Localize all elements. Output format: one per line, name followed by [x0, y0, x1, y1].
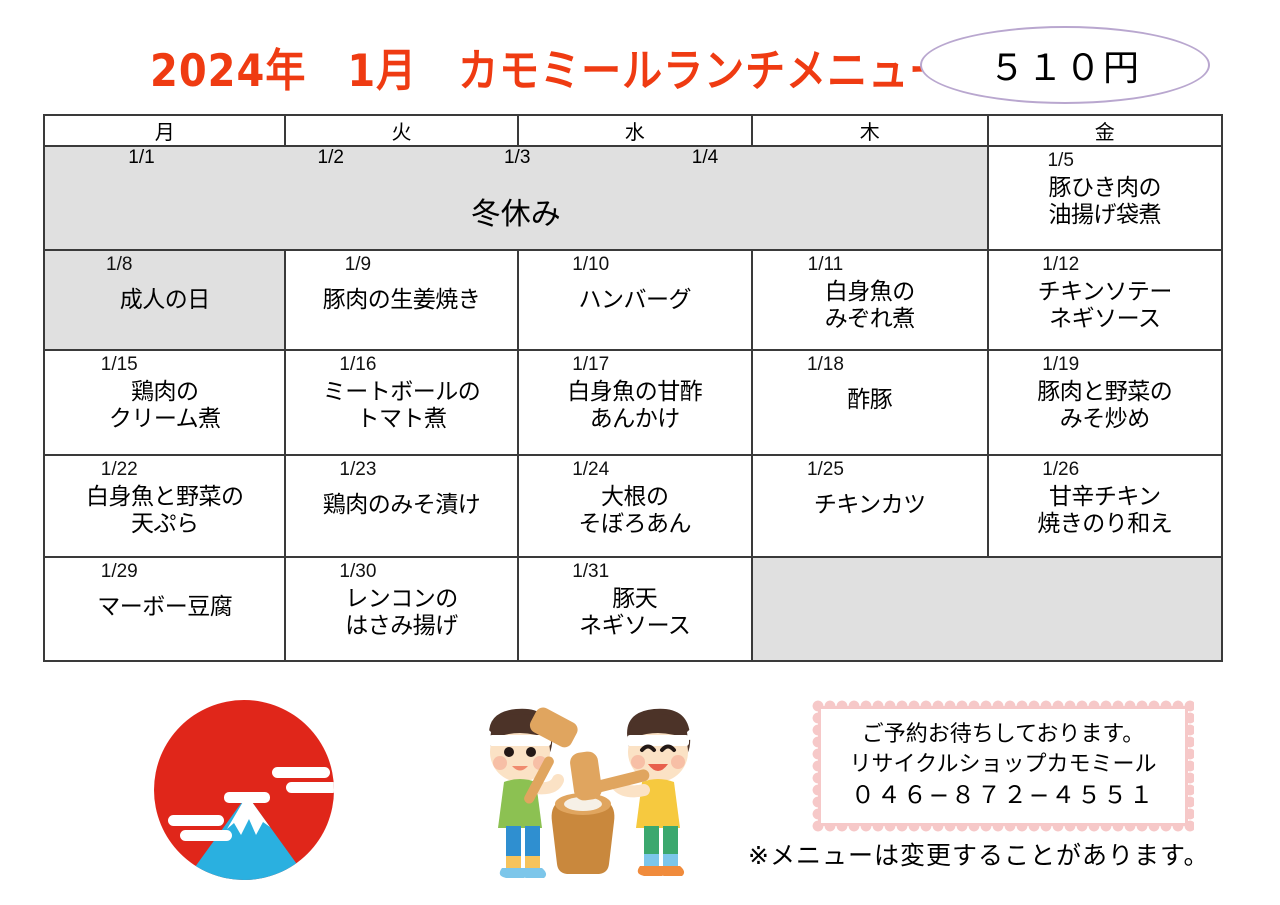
menu-cell-1-5: 1/5 豚ひき肉の 油揚げ袋煮: [988, 146, 1222, 250]
page-footer: ご予約お待ちしております。 リサイクルショップカモミール ０４６−８７２−４５５…: [0, 690, 1280, 905]
date-label-1-31: 1/31: [436, 562, 745, 582]
weekday-header-tue: 火: [285, 115, 517, 146]
dish-name-1-18: 酢豚: [759, 387, 981, 414]
table-row-week5: 1/29 マーボー豆腐 1/30 レンコンの はさみ揚げ 1/31: [44, 557, 1222, 661]
price-text: ５１０円: [989, 39, 1141, 91]
reservation-stamp-box: ご予約お待ちしております。 リサイクルショップカモミール ０４６−８７２−４５５…: [818, 706, 1188, 826]
dish-name-1-26: 甘辛チキン 焼きのり和え: [995, 484, 1215, 538]
menu-cell-1-31: 1/31 豚天 ネギソース: [518, 557, 752, 661]
dish-name-1-25: チキンカツ: [759, 492, 981, 519]
page-title: 2024年 1月 カモミールランチメニュー: [150, 35, 870, 100]
dish-name-1-12: チキンソテー ネギソース: [995, 279, 1215, 333]
dish-line-1: 酢豚: [759, 387, 981, 414]
weekday-header-wed: 水: [518, 115, 752, 146]
weekday-header-mon: 月: [44, 115, 285, 146]
price-badge: ５１０円: [920, 26, 1210, 104]
dish-line-2: ネギソース: [525, 613, 745, 640]
dish-line-1: 豚ひき肉の: [995, 175, 1215, 202]
dish-name-1-29: マーボー豆腐: [51, 594, 278, 621]
dish-name-1-19: 豚肉と野菜の みそ炒め: [995, 379, 1215, 433]
empty-cell-week5: [752, 557, 1222, 661]
dish-line-1: 成人の日: [51, 287, 278, 314]
dish-line-1: チキンカツ: [759, 492, 981, 519]
dish-name-1-15: 鶏肉の クリーム煮: [51, 379, 278, 433]
dish-line-2: 焼きのり和え: [995, 511, 1215, 538]
dish-name-1-23: 鶏肉のみそ漬け: [292, 492, 510, 519]
winter-break-dates: 1/1 1/2 1/3 1/4: [45, 147, 987, 169]
mochi-pounding-svg: [432, 690, 722, 885]
menu-calendar-table: 月 火 水 木 金 1/1 1/2 1/3 1/4 冬休み 1/5: [43, 114, 1223, 662]
dish-name-1-30: レンコンの はさみ揚げ: [292, 586, 510, 640]
mount-fuji-icon: [142, 695, 357, 895]
dish-name-1-10: ハンバーグ: [525, 287, 745, 314]
dish-line-2: みそ炒め: [995, 406, 1215, 433]
menu-cell-1-12: 1/12 チキンソテー ネギソース: [988, 250, 1222, 350]
dish-name-1-31: 豚天 ネギソース: [525, 586, 745, 640]
dish-line-2: そぼろあん: [525, 511, 745, 538]
date-label-1-3: 1/3: [424, 147, 611, 169]
table-body: 1/1 1/2 1/3 1/4 冬休み 1/5 豚ひき肉の 油揚げ袋煮: [44, 146, 1222, 661]
dish-line-2: クリーム煮: [51, 406, 278, 433]
dish-line-1: チキンソテー: [995, 279, 1215, 306]
dish-line-2: はさみ揚げ: [292, 613, 510, 640]
winter-break-label: 冬休み: [45, 189, 987, 233]
dish-name-1-22: 白身魚と野菜の 天ぷら: [51, 484, 278, 538]
mount-fuji-svg: [142, 695, 357, 895]
menu-cell-1-19: 1/19 豚肉と野菜の みそ炒め: [988, 350, 1222, 455]
dish-name-1-8: 成人の日: [51, 287, 278, 314]
dish-line-1: 白身魚の甘酢: [525, 379, 745, 406]
dish-line-1: マーボー豆腐: [51, 594, 278, 621]
dish-line-1: 甘辛チキン: [995, 484, 1215, 511]
date-label-1-5: 1/5: [906, 151, 1215, 171]
date-label-1-1: 1/1: [45, 147, 238, 169]
table-row-week4: 1/22 白身魚と野菜の 天ぷら 1/23 鶏肉のみそ漬け 1/24: [44, 455, 1222, 557]
reservation-line-2: リサイクルショップカモミール: [850, 750, 1157, 779]
dish-line-1: ミートボールの: [292, 379, 510, 406]
page-header: 2024年 1月 カモミールランチメニュー ５１０円: [0, 0, 1280, 112]
dish-line-2: ネギソース: [995, 306, 1215, 333]
dish-line-2: 天ぷら: [51, 511, 278, 538]
date-label-1-12: 1/12: [906, 255, 1215, 275]
reservation-line-1: ご予約お待ちしております。: [862, 720, 1144, 749]
table-row-week2: 1/8 成人の日 1/9 豚肉の生姜焼き 1/10: [44, 250, 1222, 350]
dish-name-1-24: 大根の そぼろあん: [525, 484, 745, 538]
dish-name-1-9: 豚肉の生姜焼き: [292, 287, 510, 314]
dish-line-1: 豚天: [525, 586, 745, 613]
dish-line-1: 大根の: [525, 484, 745, 511]
dish-line-2: あんかけ: [525, 406, 745, 433]
date-label-1-26: 1/26: [906, 460, 1215, 480]
dish-line-1: 鶏肉の: [51, 379, 278, 406]
reservation-phone: ０４６−８７２−４５５１: [851, 779, 1155, 811]
date-label-1-19: 1/19: [906, 355, 1215, 375]
weekday-header-row: 月 火 水 木 金: [44, 115, 1222, 146]
menu-change-note: ※メニューは変更することがあります。: [748, 836, 1248, 872]
table-row-week3: 1/15 鶏肉の クリーム煮 1/16 ミートボールの トマト煮: [44, 350, 1222, 455]
dish-line-1: 白身魚と野菜の: [51, 484, 278, 511]
dish-line-2: 油揚げ袋煮: [995, 202, 1215, 229]
dish-name-1-17: 白身魚の甘酢 あんかけ: [525, 379, 745, 433]
weekday-header-fri: 金: [988, 115, 1222, 146]
date-label-1-2: 1/2: [238, 147, 423, 169]
dish-name-1-16: ミートボールの トマト煮: [292, 379, 510, 433]
dish-line-1: レンコンの: [292, 586, 510, 613]
winter-break-cell: 1/1 1/2 1/3 1/4 冬休み: [44, 146, 988, 250]
table-header-row-group: 月 火 水 木 金: [44, 115, 1222, 146]
dish-line-1: 白身魚の: [759, 279, 981, 306]
dish-line-2: みぞれ煮: [759, 306, 981, 333]
dish-line-1: 豚肉の生姜焼き: [292, 287, 510, 314]
dish-line-1: 鶏肉のみそ漬け: [292, 492, 510, 519]
dish-line-1: ハンバーグ: [525, 287, 745, 314]
mochi-pounding-icon: [432, 690, 722, 885]
menu-cell-1-26: 1/26 甘辛チキン 焼きのり和え: [988, 455, 1222, 557]
dish-name-1-11: 白身魚の みぞれ煮: [759, 279, 981, 333]
date-label-1-4: 1/4: [611, 147, 799, 169]
dish-name-1-5: 豚ひき肉の 油揚げ袋煮: [995, 175, 1215, 229]
table-row-week1: 1/1 1/2 1/3 1/4 冬休み 1/5 豚ひき肉の 油揚げ袋煮: [44, 146, 1222, 250]
weekday-header-thu: 木: [752, 115, 988, 146]
dish-line-1: 豚肉と野菜の: [995, 379, 1215, 406]
dish-line-2: トマト煮: [292, 406, 510, 433]
